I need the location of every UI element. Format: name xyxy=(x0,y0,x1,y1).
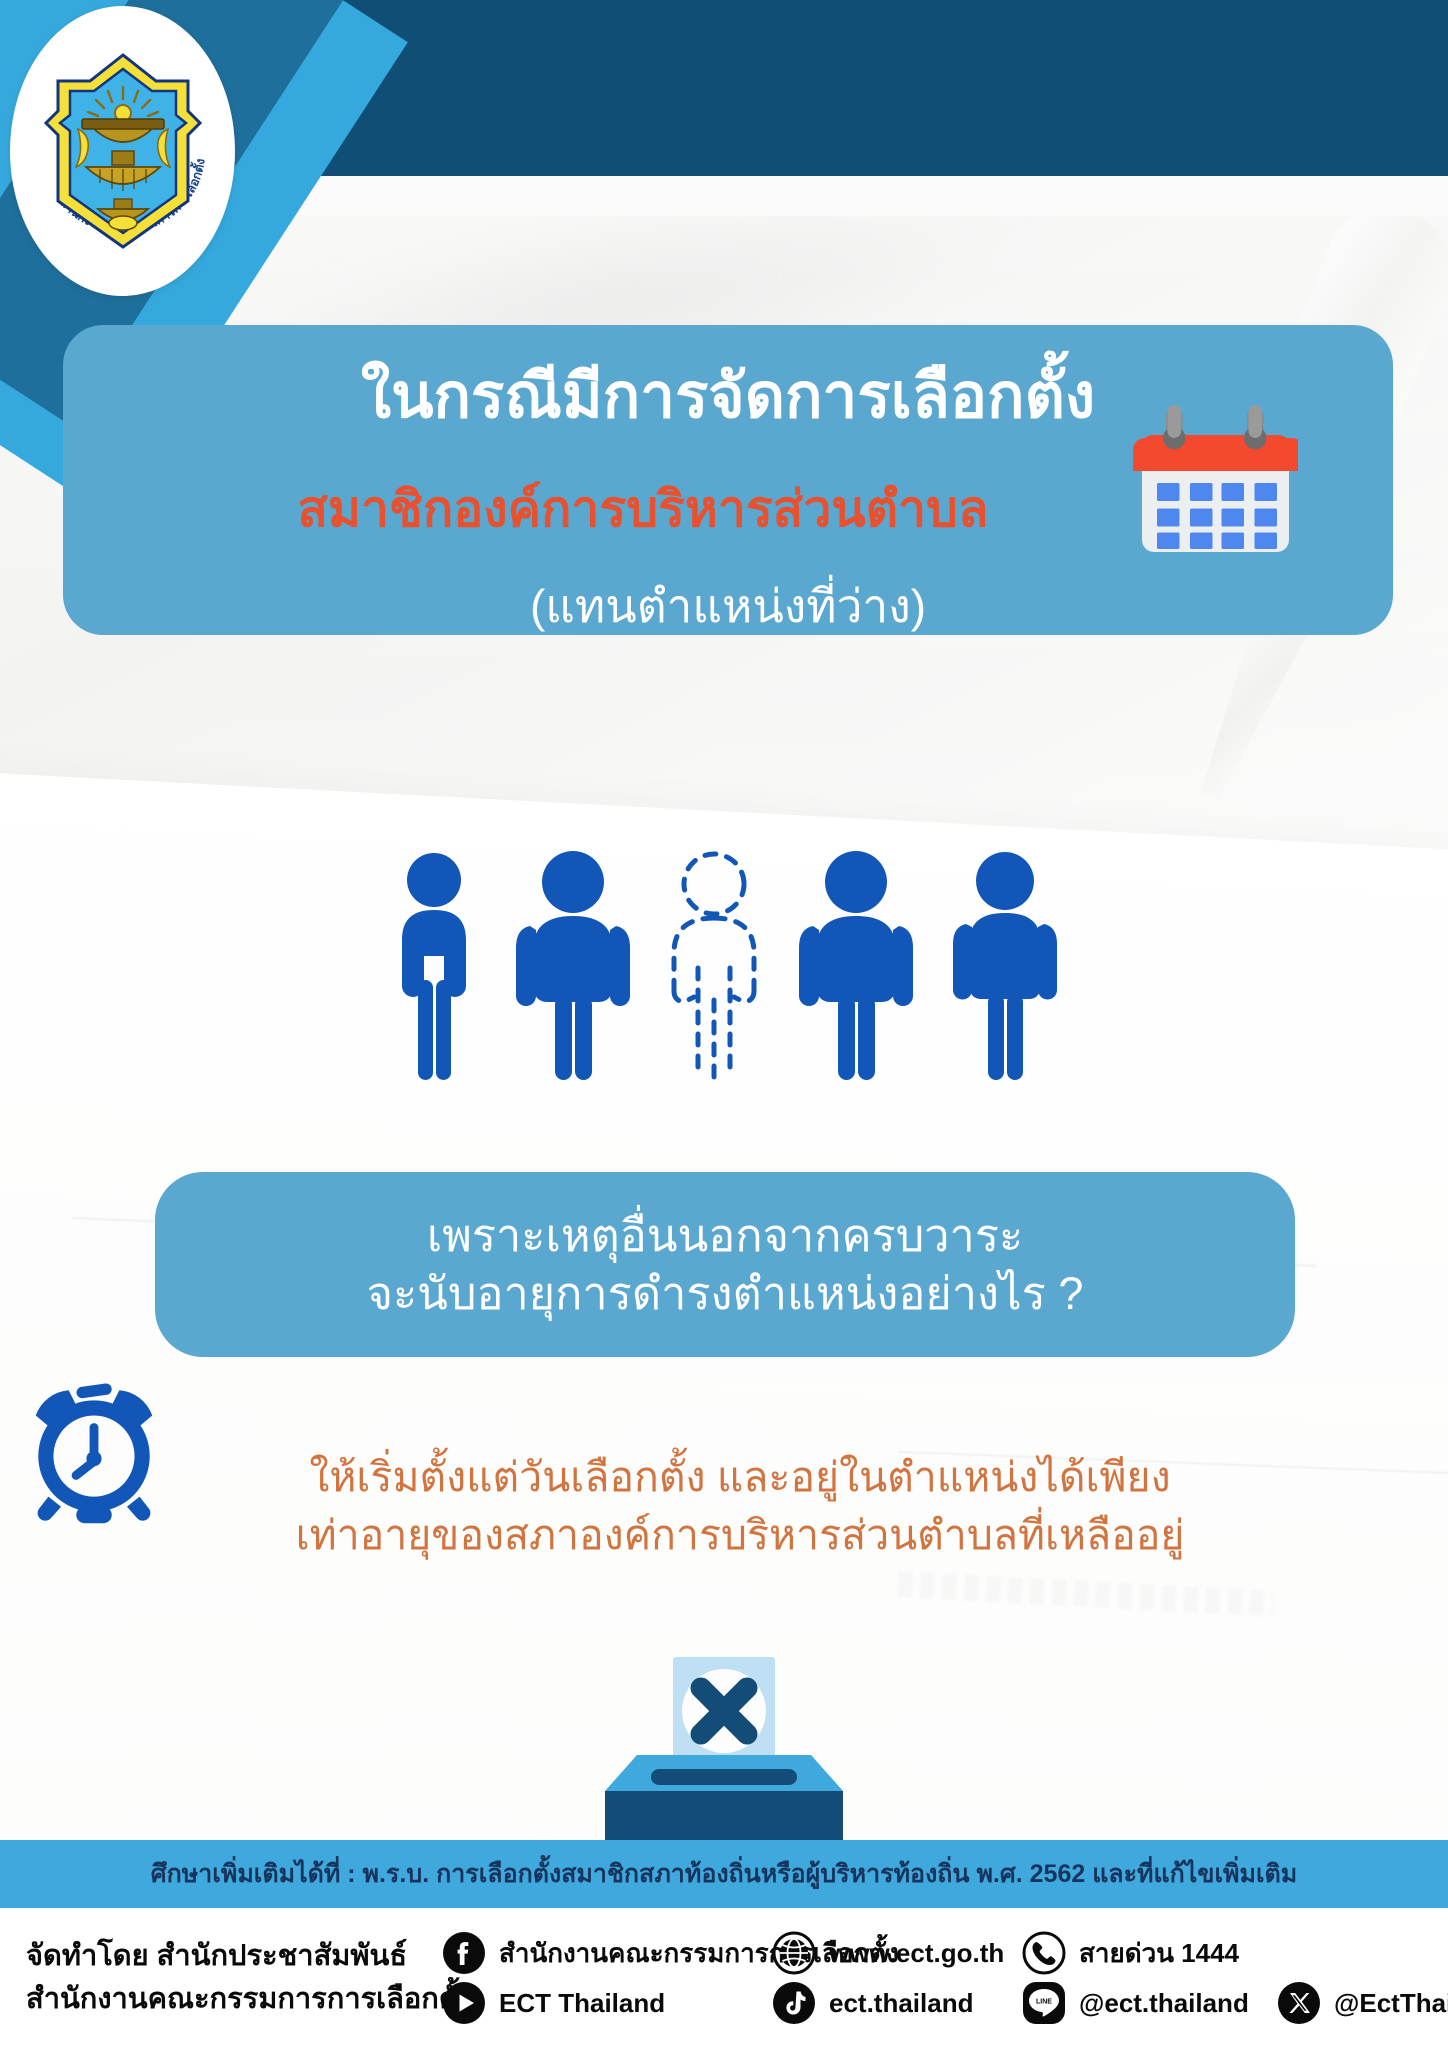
alarm-clock-icon xyxy=(18,1375,170,1527)
footer-channel-hotline[interactable]: สายด่วน 1444 xyxy=(1022,1931,1277,1975)
title-card: ในกรณีมีการจัดการเลือกตั้ง สมาชิกองค์การ… xyxy=(63,325,1393,635)
footer-channel-label: ECT Thailand xyxy=(499,1988,665,2019)
line-icon: LINE xyxy=(1022,1981,1066,2025)
tiktok-icon xyxy=(772,1981,816,2025)
youtube-icon xyxy=(442,1981,486,2025)
question-line1: เพราะเหตุอื่นนอกจากครบวาระ xyxy=(427,1207,1023,1265)
person-figure-4 xyxy=(935,848,1075,1080)
person-figure-1 xyxy=(374,848,494,1080)
title-card-line2: สมาชิกองค์การบริหารส่วนตำบล xyxy=(63,470,1223,549)
ballot-box-with-x-ballot-icon xyxy=(579,1655,869,1845)
footer-credit-line1: จัดทำโดย สำนักประชาสัมพันธ์ xyxy=(26,1935,416,1979)
footer-channel-x[interactable]: @EctThailand xyxy=(1277,1981,1448,2025)
footer: จัดทำโดย สำนักประชาสัมพันธ์ สำนักงานคณะก… xyxy=(0,1908,1448,2048)
answer-block: ให้เริ่มตั้งแต่วันเลือกตั้ง และอยู่ในตำแ… xyxy=(180,1448,1300,1564)
footer-channel-label: www.ect.go.th xyxy=(829,1938,1004,1969)
x-twitter-icon xyxy=(1277,1981,1321,2025)
people-group-with-vacant-slot-icon xyxy=(0,815,1448,1080)
footer-credit: จัดทำโดย สำนักประชาสัมพันธ์ สำนักงานคณะก… xyxy=(0,1935,416,2022)
answer-line1: ให้เริ่มตั้งแต่วันเลือกตั้ง และอยู่ในตำแ… xyxy=(180,1448,1300,1506)
footer-credit-line2: สำนักงานคณะกรรมการการเลือกตั้ง xyxy=(26,1978,416,2022)
calendar-icon xyxy=(1133,403,1298,563)
logo-emblem-icon xyxy=(38,51,208,251)
footer-channel-label: @ect.thailand xyxy=(1079,1988,1249,2019)
phone-icon xyxy=(1022,1931,1066,1975)
person-figure-3 xyxy=(781,848,931,1080)
header-rounded-notch xyxy=(228,176,1448,216)
person-figure-2 xyxy=(498,848,648,1080)
vacant-position-outline-icon xyxy=(652,848,777,1080)
infographic-poster: ความรู้การเลือกตั้งองค์การบริหารส่วนตำบล… xyxy=(0,0,1448,2048)
footer-channel-label: @EctThailand xyxy=(1334,1988,1448,2019)
footer-channel-youtube[interactable]: ECT Thailand xyxy=(442,1981,772,2025)
footer-channel-facebook[interactable]: สำนักงานคณะกรรมการการเลือกตั้ง xyxy=(442,1931,772,1975)
footer-channel-website[interactable]: www.ect.go.th xyxy=(772,1931,1022,1975)
legal-reference-text: ศึกษาเพิ่มเติมได้ที่ : พ.ร.บ. การเลือกตั… xyxy=(151,1854,1297,1894)
footer-channel-label: สายด่วน 1444 xyxy=(1079,1933,1239,1974)
title-card-line3: (แทนตำแหน่งที่ว่าง) xyxy=(63,570,1393,643)
svg-text:LINE: LINE xyxy=(1036,1999,1052,2006)
facebook-icon xyxy=(442,1931,486,1975)
footer-channel-line[interactable]: LINE @ect.thailand xyxy=(1022,1981,1277,2025)
globe-icon xyxy=(772,1931,816,1975)
ect-emblem-logo: สำนักงานคณะกรรมการการเลือกตั้ง xyxy=(10,6,235,296)
question-card: เพราะเหตุอื่นนอกจากครบวาระ จะนับอายุการด… xyxy=(155,1172,1295,1357)
question-line2: จะนับอายุการดำรงตำแหน่งอย่างไร ? xyxy=(367,1265,1084,1323)
answer-line2: เท่าอายุของสภาองค์การบริหารส่วนตำบลที่เห… xyxy=(180,1506,1300,1564)
footer-channel-label: ect.thailand xyxy=(829,1988,973,2019)
legal-reference-bar: ศึกษาเพิ่มเติมได้ที่ : พ.ร.บ. การเลือกตั… xyxy=(0,1840,1448,1908)
footer-channel-tiktok[interactable]: ect.thailand xyxy=(772,1981,1022,2025)
footer-channels: สำนักงานคณะกรรมการการเลือกตั้ง www.ect.g… xyxy=(442,1931,1448,2025)
